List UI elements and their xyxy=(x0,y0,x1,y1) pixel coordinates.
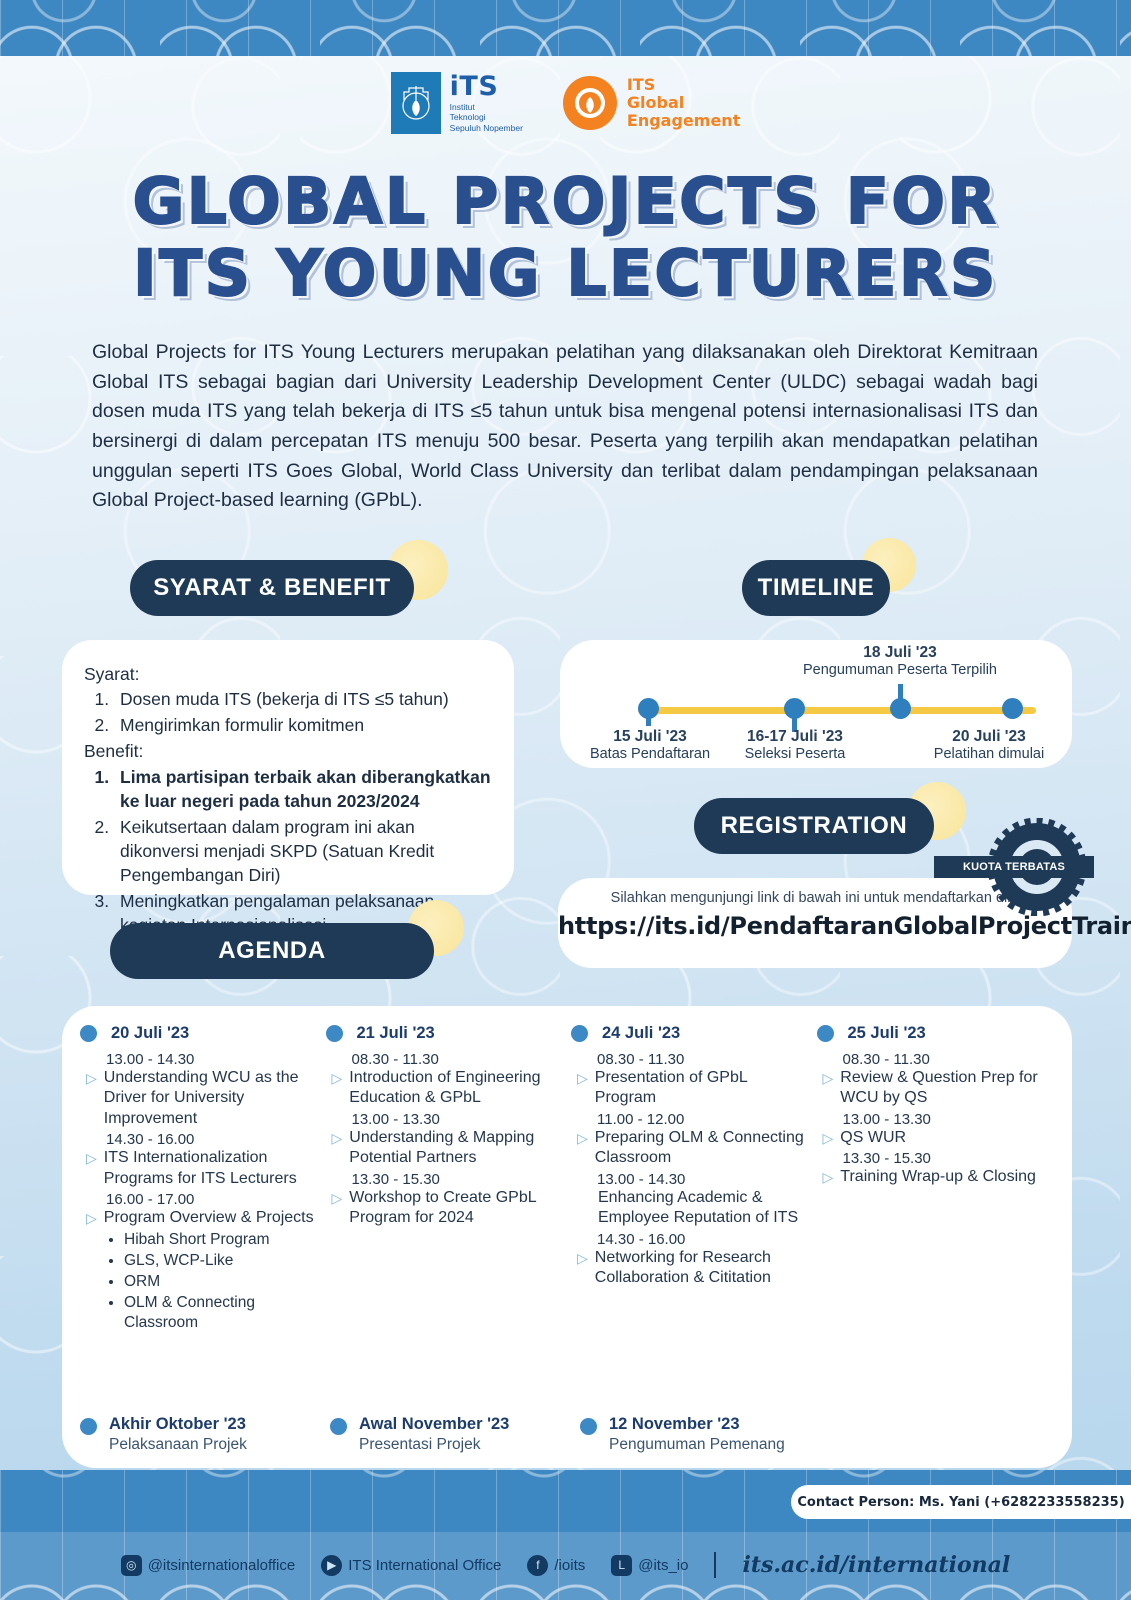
social-handle: /ioits xyxy=(554,1557,585,1574)
social-handle: @itsinternationaloffice xyxy=(148,1557,296,1574)
agenda-column-4: 25 Juli '23 08.30 - 11.30 ▷Review & Ques… xyxy=(817,1024,1055,1335)
agenda-day-header: 25 Juli '23 xyxy=(817,1024,1055,1043)
top-border-pattern xyxy=(0,0,1131,56)
kuota-terbatas-badge: KUOTA TERBATAS xyxy=(988,818,1086,916)
timeline-track: 15 Juli '23 Batas Pendaftaran 16-17 Juli… xyxy=(560,640,1072,768)
list-item: GLS, WCP-Like xyxy=(124,1251,318,1271)
arrow-icon: ▷ xyxy=(823,1128,834,1148)
agenda-item: Enhancing Academic & Employee Reputation… xyxy=(598,1188,809,1229)
agenda-milestone-label: Presentasi Projek xyxy=(359,1435,509,1454)
its-name-big: iTS xyxy=(450,73,523,100)
global-engagement-wordmark: ITS Global Engagement xyxy=(627,76,740,130)
instagram-icon: ◎ xyxy=(121,1555,142,1576)
timeline-desc: Seleksi Peserta xyxy=(710,746,880,762)
social-youtube[interactable]: ▶ ITS International Office xyxy=(321,1555,501,1576)
bullet-dot-icon xyxy=(817,1025,834,1042)
list-item: Mengirimkan formulir komitmen xyxy=(114,713,492,737)
agenda-item-title: Program Overview & Projects xyxy=(104,1208,314,1228)
agenda-date: 24 Juli '23 xyxy=(602,1024,680,1043)
timeline-date: 18 Juli '23 xyxy=(700,644,1100,662)
youtube-icon: ▶ xyxy=(321,1555,342,1576)
section-header-agenda: AGENDA xyxy=(110,923,434,979)
list-item: Hibah Short Program xyxy=(124,1230,318,1250)
agenda-item: ▷Review & Question Prep for WCU by QS xyxy=(823,1068,1055,1109)
agenda-date: 20 Juli '23 xyxy=(111,1024,189,1043)
agenda-item: ▷QS WUR xyxy=(823,1128,1055,1148)
arrow-icon: ▷ xyxy=(332,1068,343,1109)
agenda-milestone: 12 November '23 Pengumuman Pemenang xyxy=(580,1414,785,1454)
agenda-time: 11.00 - 12.00 xyxy=(597,1111,809,1128)
agenda-item-title: Review & Question Prep for WCU by QS xyxy=(840,1068,1054,1109)
agenda-time: 08.30 - 11.30 xyxy=(843,1051,1055,1068)
list-item: Keikutsertaan dalam program ini akan dik… xyxy=(114,815,492,887)
agenda-columns: 20 Juli '23 13.00 - 14.30 ▷Understanding… xyxy=(80,1024,1054,1335)
agenda-milestone-date: Awal November '23 xyxy=(359,1414,509,1435)
bullet-dot-icon xyxy=(80,1025,97,1042)
social-facebook[interactable]: f /ioits xyxy=(527,1555,585,1576)
its-name-small: InstitutTeknologiSepuluh Nopember xyxy=(450,102,523,134)
agenda-time: 16.00 - 17.00 xyxy=(106,1191,318,1208)
agenda-item-title: Introduction of Engineering Education & … xyxy=(349,1068,563,1109)
agenda-card: 20 Juli '23 13.00 - 14.30 ▷Understanding… xyxy=(62,1006,1072,1468)
agenda-item-title: Understanding WCU as the Driver for Univ… xyxy=(104,1068,318,1129)
timeline-card: 15 Juli '23 Batas Pendaftaran 16-17 Juli… xyxy=(560,640,1072,768)
list-item: OLM & Connecting Classroom xyxy=(124,1293,318,1333)
agenda-day-header: 24 Juli '23 xyxy=(571,1024,809,1043)
timeline-label-3: 18 Juli '23 Pengumuman Peserta Terpilih xyxy=(700,644,1100,678)
bullet-dot-icon xyxy=(326,1025,343,1042)
agenda-time: 14.30 - 16.00 xyxy=(106,1131,318,1148)
agenda-item: ▷Understanding & Mapping Potential Partn… xyxy=(332,1128,564,1169)
arrow-icon: ▷ xyxy=(86,1148,97,1189)
arrow-icon: ▷ xyxy=(332,1188,343,1229)
poster-root: iTS InstitutTeknologiSepuluh Nopember IT… xyxy=(0,0,1131,1600)
benefit-label: Benefit: xyxy=(84,739,492,763)
bullet-dot-icon xyxy=(80,1418,97,1435)
section-header-syarat-benefit: SYARAT & BENEFIT xyxy=(130,560,414,616)
agenda-item: ▷Program Overview & Projects xyxy=(86,1208,318,1228)
agenda-time: 13.00 - 13.30 xyxy=(843,1111,1055,1128)
its-shield-icon xyxy=(391,72,441,134)
syarat-benefit-content: Syarat: Dosen muda ITS (bekerja di ITS ≤… xyxy=(84,662,492,938)
badge-ribbon-label: KUOTA TERBATAS xyxy=(934,856,1094,878)
agenda-time: 08.30 - 11.30 xyxy=(597,1051,809,1068)
title-line-1: GLOBAL PROJECTS FOR xyxy=(0,166,1131,238)
agenda-time: 14.30 - 16.00 xyxy=(597,1231,809,1248)
social-instagram[interactable]: ◎ @itsinternationaloffice xyxy=(121,1555,296,1576)
agenda-day-header: 21 Juli '23 xyxy=(326,1024,564,1043)
agenda-item-title: Understanding & Mapping Potential Partne… xyxy=(349,1128,563,1169)
agenda-date: 21 Juli '23 xyxy=(357,1024,435,1043)
contact-person-pill: Contact Person: Ms. Yani (+6282233558235… xyxy=(791,1485,1131,1519)
logo-row: iTS InstitutTeknologiSepuluh Nopember IT… xyxy=(0,72,1131,134)
its-logo: iTS InstitutTeknologiSepuluh Nopember xyxy=(391,72,523,134)
arrow-icon: ▷ xyxy=(86,1208,97,1228)
footer-website[interactable]: its.ac.id/international xyxy=(742,1552,1010,1578)
facebook-icon: f xyxy=(527,1555,548,1576)
agenda-item-title: Workshop to Create GPbL Program for 2024 xyxy=(349,1188,563,1229)
agenda-item-title: Networking for Research Collaboration & … xyxy=(595,1248,809,1289)
timeline-date: 16-17 Juli '23 xyxy=(710,728,880,746)
timeline-stem-1 xyxy=(646,710,651,726)
agenda-time: 13.00 - 14.30 xyxy=(597,1171,809,1188)
arrow-icon: ▷ xyxy=(86,1068,97,1129)
arrow-icon: ▷ xyxy=(823,1068,834,1109)
timeline-label-4: 20 Juli '23 Pelatihan dimulai xyxy=(906,728,1072,762)
agenda-column-3: 24 Juli '23 08.30 - 11.30 ▷Presentation … xyxy=(571,1024,809,1335)
social-handle: ITS International Office xyxy=(348,1557,501,1574)
agenda-item: ▷Networking for Research Collaboration &… xyxy=(577,1248,809,1289)
ge-line-2: Global xyxy=(627,94,740,112)
agenda-day-header: 20 Juli '23 xyxy=(80,1024,318,1043)
agenda-item: ▷ITS Internationalization Programs for I… xyxy=(86,1148,318,1189)
global-engagement-icon xyxy=(563,76,617,130)
social-line[interactable]: L @its_io xyxy=(611,1555,688,1576)
page-title: GLOBAL PROJECTS FOR ITS YOUNG LECTURERS xyxy=(0,166,1131,310)
agenda-item: ▷Introduction of Engineering Education &… xyxy=(332,1068,564,1109)
list-item: Lima partisipan terbaik akan diberangkat… xyxy=(114,765,492,813)
arrow-icon: ▷ xyxy=(577,1248,588,1289)
line-icon: L xyxy=(611,1555,632,1576)
agenda-item: ▷Workshop to Create GPbL Program for 202… xyxy=(332,1188,564,1229)
agenda-column-2: 21 Juli '23 08.30 - 11.30 ▷Introduction … xyxy=(326,1024,564,1335)
intro-paragraph: Global Projects for ITS Young Lecturers … xyxy=(92,338,1038,516)
agenda-time: 13.00 - 14.30 xyxy=(106,1051,318,1068)
list-item: Dosen muda ITS (bekerja di ITS ≤5 tahun) xyxy=(114,687,492,711)
agenda-time: 08.30 - 11.30 xyxy=(352,1051,564,1068)
agenda-time: 13.00 - 13.30 xyxy=(352,1111,564,1128)
agenda-item-title: Training Wrap-up & Closing xyxy=(840,1167,1036,1187)
agenda-milestone-label: Pengumuman Pemenang xyxy=(609,1435,785,1454)
registration-url[interactable]: https://its.id/PendaftaranGlobalProjectT… xyxy=(558,912,1072,940)
agenda-item-title: ITS Internationalization Programs for IT… xyxy=(104,1148,318,1189)
agenda-bottom-row: Akhir Oktober '23 Pelaksanaan Projek Awa… xyxy=(80,1414,1054,1454)
agenda-time: 13.30 - 15.30 xyxy=(843,1150,1055,1167)
timeline-bar xyxy=(638,707,1036,714)
timeline-dot-4 xyxy=(1002,698,1023,719)
ge-line-1: ITS xyxy=(627,76,740,94)
agenda-item: ▷Understanding WCU as the Driver for Uni… xyxy=(86,1068,318,1129)
agenda-item-title: Enhancing Academic & Employee Reputation… xyxy=(598,1188,809,1229)
agenda-item: ▷Preparing OLM & Connecting Classroom xyxy=(577,1128,809,1169)
footer-divider xyxy=(714,1552,716,1578)
title-line-2: ITS YOUNG LECTURERS xyxy=(0,238,1131,310)
arrow-icon: ▷ xyxy=(577,1068,588,1109)
timeline-date: 20 Juli '23 xyxy=(906,728,1072,746)
agenda-column-1: 20 Juli '23 13.00 - 14.30 ▷Understanding… xyxy=(80,1024,318,1335)
agenda-milestone-label: Pelaksanaan Projek xyxy=(109,1435,247,1454)
timeline-desc: Pengumuman Peserta Terpilih xyxy=(700,662,1100,678)
agenda-item-title: Preparing OLM & Connecting Classroom xyxy=(595,1128,809,1169)
agenda-milestone-date: Akhir Oktober '23 xyxy=(109,1414,247,1435)
section-header-registration: REGISTRATION xyxy=(694,798,934,854)
list-item: ORM xyxy=(124,1272,318,1292)
syarat-benefit-card: Syarat: Dosen muda ITS (bekerja di ITS ≤… xyxy=(62,640,514,895)
ge-line-3: Engagement xyxy=(627,112,740,130)
agenda-sublist: Hibah Short Program GLS, WCP-Like ORM OL… xyxy=(124,1230,318,1334)
timeline-label-2: 16-17 Juli '23 Seleksi Peserta xyxy=(710,728,880,762)
agenda-milestone: Akhir Oktober '23 Pelaksanaan Projek xyxy=(80,1414,330,1454)
social-handle: @its_io xyxy=(638,1557,688,1574)
agenda-item: ▷Presentation of GPbL Program xyxy=(577,1068,809,1109)
agenda-item: ▷Training Wrap-up & Closing xyxy=(823,1167,1055,1187)
timeline-desc: Pelatihan dimulai xyxy=(906,746,1072,762)
footer-social-row: ◎ @itsinternationaloffice ▶ ITS Internat… xyxy=(0,1552,1131,1578)
arrow-icon: ▷ xyxy=(332,1128,343,1169)
syarat-list: Dosen muda ITS (bekerja di ITS ≤5 tahun)… xyxy=(114,687,492,737)
bullet-dot-icon xyxy=(571,1025,588,1042)
its-global-engagement-logo: ITS Global Engagement xyxy=(563,76,740,130)
agenda-milestone: Awal November '23 Presentasi Projek xyxy=(330,1414,580,1454)
timeline-stem-3 xyxy=(898,684,903,706)
syarat-label: Syarat: xyxy=(84,662,492,686)
agenda-item-title: Presentation of GPbL Program xyxy=(595,1068,809,1109)
agenda-item-title: QS WUR xyxy=(840,1128,906,1148)
agenda-time: 13.30 - 15.30 xyxy=(352,1171,564,1188)
arrow-icon: ▷ xyxy=(577,1128,588,1169)
agenda-milestone-date: 12 November '23 xyxy=(609,1414,785,1435)
section-header-timeline: TIMELINE xyxy=(742,560,890,616)
arrow-icon: ▷ xyxy=(823,1167,834,1187)
agenda-date: 25 Juli '23 xyxy=(848,1024,926,1043)
its-wordmark: iTS InstitutTeknologiSepuluh Nopember xyxy=(450,73,523,134)
bullet-dot-icon xyxy=(580,1418,597,1435)
bullet-dot-icon xyxy=(330,1418,347,1435)
